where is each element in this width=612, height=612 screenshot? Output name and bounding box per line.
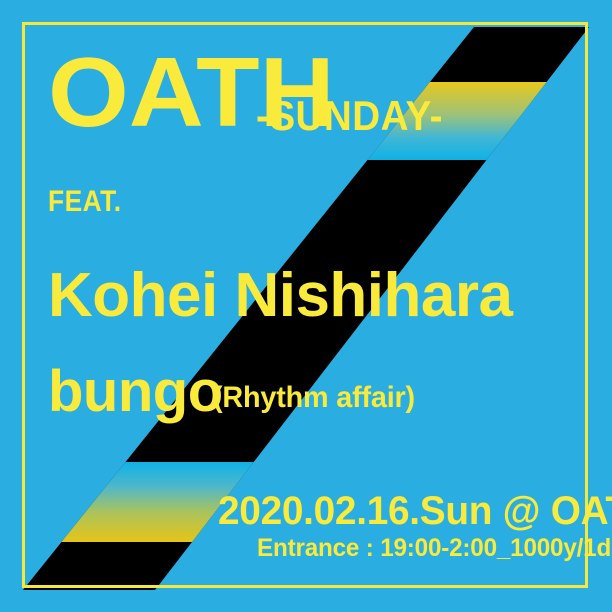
- artist-name-primary: Kohei Nishihara: [48, 265, 513, 327]
- page-subtitle: -SUNDAY-: [256, 95, 443, 137]
- artist-name-secondary: bungo: [48, 363, 223, 421]
- date-and-venue: 2020.02.16.Sun @ OATH: [218, 491, 612, 531]
- artist-affiliation-secondary: (Rhythm affair): [213, 383, 415, 413]
- flyer-poster: OATH -SUNDAY- FEAT. Kohei Nishihara bung…: [0, 0, 612, 612]
- entrance-info: Entrance : 19:00-2:00_1000y/1d: [257, 536, 611, 561]
- feat-label: FEAT.: [48, 187, 122, 217]
